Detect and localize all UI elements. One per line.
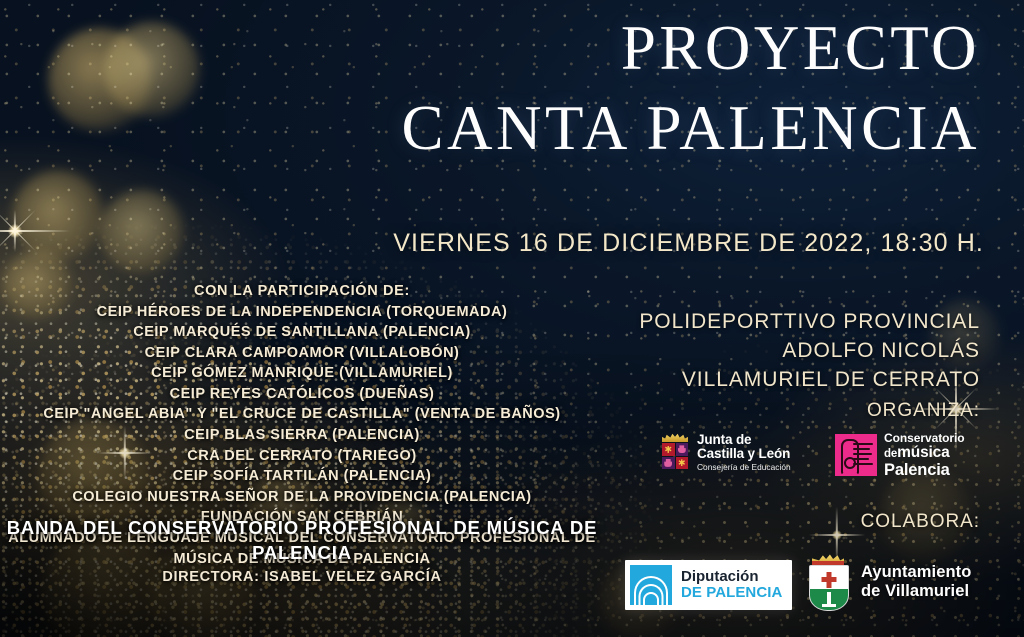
conservatorio-line-3: Palencia xyxy=(884,462,965,479)
title-line-1: PROYECTO xyxy=(0,16,980,80)
participant-item: CEIP REYES CATÓLICOS (DUEÑAS) xyxy=(0,384,604,405)
logo-ayuntamiento-de-villamuriel[interactable]: Ayuntamiento de Villamuriel xyxy=(805,554,971,610)
venue-line-1: POLIDEPORTTIVO PROVINCIAL xyxy=(639,308,980,337)
title-line-2: CANTA PALENCIA xyxy=(0,96,980,160)
venue-line-3: VILLAMURIEL DE CERRATO xyxy=(639,366,980,395)
junta-line-2: Castilla y León xyxy=(697,447,791,461)
participant-item: CEIP MARQUÉS DE SANTILLANA (PALENCIA) xyxy=(0,322,604,343)
ayuntamiento-crest-icon xyxy=(805,554,851,610)
participant-item: CEIP "ANGEL ABIA" Y "EL CRUCE DE CASTILL… xyxy=(0,404,604,425)
poster-title: PROYECTO CANTA PALENCIA xyxy=(0,16,1024,161)
conservatorio-line-1: Conservatorio xyxy=(884,432,965,444)
logo-diputacion-de-palencia[interactable]: Diputación DE PALENCIA xyxy=(625,560,792,610)
event-date: VIERNES 16 DE DICIEMBRE DE 2022, 18:30 H… xyxy=(0,229,1024,258)
venue-line-2: ADOLFO NICOLÁS xyxy=(639,337,980,366)
organiza-logo-row: Junta de Castilla y León Consejería de E… xyxy=(655,430,1000,492)
participant-item: COLEGIO NUESTRA SEÑOR DE LA PROVIDENCIA … xyxy=(0,487,604,508)
participant-item: CRA DEL CERRATO (TARIEGO) xyxy=(0,446,604,467)
logo-junta-castilla-y-leon[interactable]: Junta de Castilla y León Consejería de E… xyxy=(660,433,791,471)
ayuntamiento-line-1: Ayuntamiento xyxy=(861,563,971,582)
junta-line-1: Junta de xyxy=(697,433,791,447)
participant-item: CEIP GÓMEZ MANRIQUE (VILLAMURIEL) xyxy=(0,363,604,384)
poster-content: PROYECTO CANTA PALENCIA VIERNES 16 DE DI… xyxy=(0,0,1024,637)
poster: PROYECTO CANTA PALENCIA VIERNES 16 DE DI… xyxy=(0,0,1024,637)
participant-item: CEIP BLAS SIERRA (PALENCIA) xyxy=(0,425,604,446)
participant-item: CEIP CLARA CAMPOAMOR (VILLALOBÓN) xyxy=(0,343,604,364)
band-name: BANDA DEL CONSERVATORIO PROFESIONAL DE M… xyxy=(0,516,604,565)
logo-conservatorio-musica-palencia[interactable]: Conservatorio demúsica Palencia xyxy=(835,432,965,478)
band-block: BANDA DEL CONSERVATORIO PROFESIONAL DE M… xyxy=(0,516,604,585)
junta-line-3: Consejería de Educación xyxy=(697,463,791,472)
ayuntamiento-line-2: de Villamuriel xyxy=(861,582,971,601)
venue-block: POLIDEPORTTIVO PROVINCIAL ADOLFO NICOLÁS… xyxy=(639,308,980,395)
colabora-logo-row: Diputación DE PALENCIA Ayuntamiento de V… xyxy=(620,552,1015,622)
conservatorio-clef-icon xyxy=(835,434,877,476)
conservatorio-line-2: demúsica xyxy=(884,445,965,461)
conservatorio-de: de xyxy=(884,448,897,460)
junta-coat-of-arms-icon xyxy=(660,433,690,471)
diputacion-line-1: Diputación xyxy=(681,569,782,585)
band-director: DIRECTORA: ISABEL VELEZ GARCÍA xyxy=(0,569,604,585)
participants-heading: CON LA PARTICIPACIÓN DE: xyxy=(0,281,604,302)
conservatorio-musica: música xyxy=(897,444,950,461)
participant-item: CEIP SOFÍA TARTILÁN (PALENCIA) xyxy=(0,466,604,487)
label-colabora: COLABORA: xyxy=(861,511,980,533)
label-organiza: ORGANIZA: xyxy=(867,400,980,422)
participant-item: CEIP HÉROES DE LA INDEPENDENCIA (TORQUEM… xyxy=(0,302,604,323)
diputacion-arch-icon xyxy=(630,565,672,605)
diputacion-line-2: DE PALENCIA xyxy=(681,585,782,601)
